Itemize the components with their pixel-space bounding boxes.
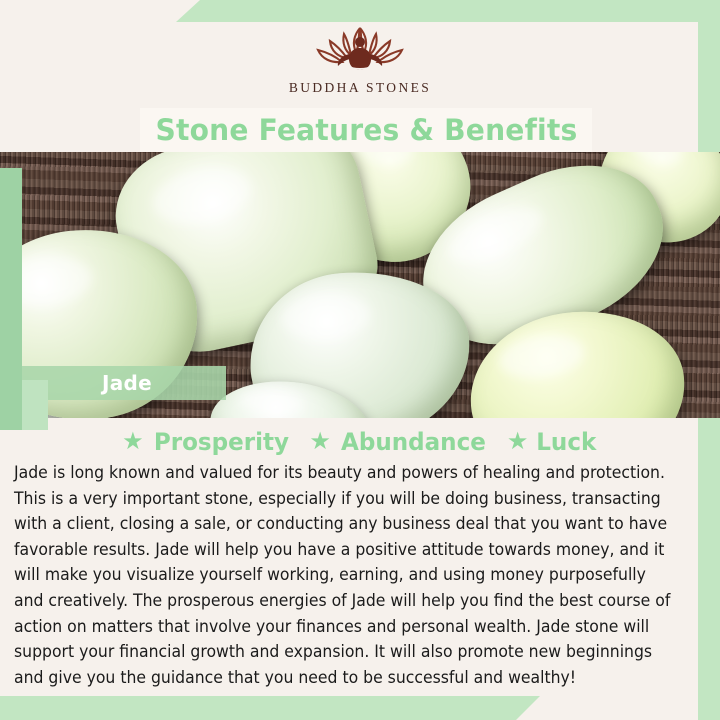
benefit-label: Luck <box>537 428 597 456</box>
title-banner: Stone Features & Benefits <box>140 108 592 152</box>
benefit-item: ★ Abundance <box>309 428 488 456</box>
description-text: Jade is long known and valued for its be… <box>14 460 677 690</box>
stone-photo: Jade <box>0 152 720 418</box>
infographic-page: BUDDHA STONES Stone Features & Benefits … <box>0 0 720 720</box>
brand-name: BUDDHA STONES <box>289 80 431 96</box>
stone-name-band: Jade <box>22 366 226 400</box>
left-accent-bar <box>0 168 22 430</box>
benefit-item: ★ Luck <box>507 428 598 456</box>
benefit-label: Abundance <box>341 428 486 456</box>
left-accent-bar-lower <box>22 380 48 430</box>
brand-header: BUDDHA STONES <box>0 22 720 108</box>
description-block: Jade is long known and valued for its be… <box>14 460 708 690</box>
lotus-meditation-icon <box>304 22 416 78</box>
benefit-label: Prosperity <box>153 428 288 456</box>
star-icon: ★ <box>122 430 144 454</box>
top-accent-bar <box>0 0 720 22</box>
star-icon: ★ <box>309 430 331 454</box>
star-icon: ★ <box>507 430 529 454</box>
benefit-item: ★ Prosperity <box>122 428 291 456</box>
benefits-row: ★ Prosperity ★ Abundance ★ Luck <box>0 428 720 456</box>
page-title: Stone Features & Benefits <box>155 113 577 147</box>
stone-name-label: Jade <box>102 371 152 395</box>
